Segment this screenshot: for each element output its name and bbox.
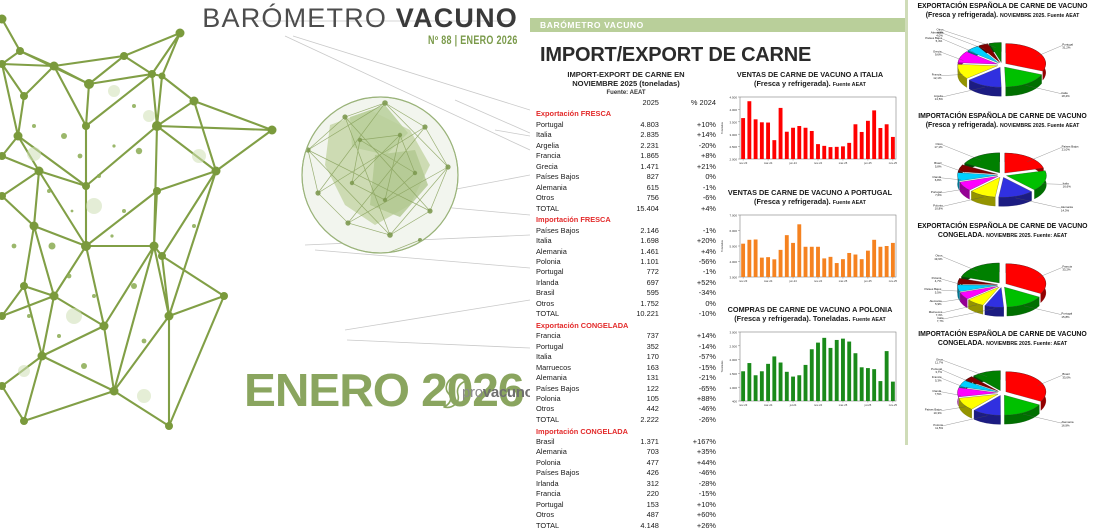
cell-pct: +14%	[673, 130, 716, 140]
cell-pct: -28%	[673, 478, 716, 488]
chart-card-polonia: COMPRAS DE CARNE DE VACUNO A POLONIA (Fr…	[718, 305, 902, 413]
import-export-table-block: IMPORT-EXPORT DE CARNE EN NOVIEMBRE 2025…	[536, 70, 716, 531]
pie-slice-value: 5,3%	[935, 378, 942, 382]
brand-title-bold: VACUNO	[396, 3, 518, 33]
chart-title-italia-main: VENTAS DE CARNE DE VACUNO A ITALIA	[718, 70, 902, 79]
th-pct: % 2024	[673, 98, 716, 108]
pie-slice-value: 3,7%	[935, 370, 942, 374]
cell-country: Otros	[536, 298, 610, 308]
chart-plot-portugal: 7.0006.0005.0004.0003.000Toneladasnov-23…	[718, 211, 902, 289]
pie-slice-value: 33,0%	[1062, 375, 1071, 379]
svg-text:5.000: 5.000	[729, 244, 737, 248]
cell-country: Países Bajos	[536, 383, 610, 393]
cell-value: 1.471	[610, 161, 673, 171]
table-row: Países Bajos122-65%	[536, 383, 716, 393]
cell-country: Alemania	[536, 373, 610, 383]
table-row: Grecia1.471+21%	[536, 161, 716, 171]
svg-text:mar-24: mar-24	[764, 279, 773, 283]
table-body: Exportación FRESCAPortugal4.803+10%Itali…	[536, 108, 716, 531]
chart-source-portugal: Fuente AEAT	[833, 200, 866, 206]
pie-slice-value: 12,1%	[933, 75, 942, 79]
cell-country: Portugal	[536, 267, 610, 277]
cell-pct: -26%	[673, 415, 716, 425]
pie-title-exp-congelada: EXPORTACIÓN ESPAÑOLA DE CARNE DE VACUNO …	[905, 222, 1100, 241]
pie-source-exp-congelada: NOVIEMBRE 2025. Fuente: AEAT	[986, 233, 1067, 239]
cell-country: Francia	[536, 489, 610, 499]
pie-title-imp-fresca: IMPORTACIÓN ESPAÑOLA DE CARNE DE VACUNO …	[905, 112, 1100, 131]
cell-country: Polonia	[536, 257, 610, 267]
table-group-label: Importación CONGELADA	[536, 425, 716, 437]
chart-title-polonia-main: COMPRAS DE CARNE DE VACUNO A POLONIA	[718, 305, 902, 314]
svg-text:nov-24: nov-24	[814, 161, 823, 165]
pie-slice-value: 14,3%	[1061, 208, 1070, 212]
pie-title-imp-fresca-main: IMPORTACIÓN ESPAÑOLA DE CARNE DE VACUNO	[909, 112, 1096, 121]
cell-pct: -6%	[673, 193, 716, 203]
svg-text:mar-25: mar-25	[839, 279, 848, 283]
svg-text:jun-24: jun-24	[788, 279, 797, 283]
chart-subtitle-polonia: (Fresca y refrigerada). Toneladas.	[734, 314, 850, 323]
pie-charts-panel: EXPORTACIÓN ESPAÑOLA DE CARNE DE VACUNO …	[905, 0, 1100, 445]
svg-text:1.000: 1.000	[729, 385, 737, 389]
cell-value: 697	[610, 278, 673, 288]
ribbon-bar: BARÓMETRO VACUNO	[530, 18, 905, 32]
cell-pct: +26%	[673, 520, 716, 530]
pie-slice-value: 4,9%	[937, 30, 944, 34]
cell-country: Portugal	[536, 341, 610, 351]
pie-card-imp-fresca: IMPORTACIÓN ESPAÑOLA DE CARNE DE VACUNO …	[905, 112, 1100, 213]
svg-text:jun-25: jun-25	[863, 279, 872, 283]
table-row: Italia2.835+14%	[536, 130, 716, 140]
cell-value: 426	[610, 468, 673, 478]
table-row: Italia1.698+20%	[536, 236, 716, 246]
svg-text:2.000: 2.000	[729, 358, 737, 362]
pie-slice-value: 33,2%	[1062, 267, 1071, 271]
svg-text:mar-24: mar-24	[764, 161, 773, 165]
pie-subtitle-imp-fresca: (Fresca y refrigerada).	[926, 122, 998, 129]
pie-slice-value: 17,1%	[934, 145, 943, 149]
pie-slice-value: 5,9%	[935, 302, 942, 306]
table-row: Países Bajos426-46%	[536, 468, 716, 478]
table-heading-line2: NOVIEMBRE 2025 (toneladas)	[536, 79, 716, 88]
pie-slice-value: 10,3%	[933, 410, 942, 414]
svg-text:nov-23: nov-23	[739, 161, 748, 165]
pie-title-exp-fresca-main: EXPORTACIÓN ESPAÑOLA DE CARNE DE VACUNO	[909, 2, 1096, 11]
cell-country: TOTAL	[536, 309, 610, 319]
chart-title-polonia: COMPRAS DE CARNE DE VACUNO A POLONIA (Fr…	[718, 305, 902, 325]
cell-value: 615	[610, 182, 673, 192]
cell-value: 15.404	[610, 203, 673, 213]
cell-country: Otros	[536, 193, 610, 203]
pie-slice-value: 15,8%	[1061, 314, 1070, 318]
svg-text:jun-24: jun-24	[788, 161, 797, 165]
cell-value: 131	[610, 373, 673, 383]
cell-value: 1.101	[610, 257, 673, 267]
table-row: Portugal153+10%	[536, 499, 716, 509]
table-group-row: Exportación FRESCA	[536, 108, 716, 120]
table-row: Portugal772-1%	[536, 267, 716, 277]
cell-pct: +20%	[673, 236, 716, 246]
cell-pct: +4%	[673, 246, 716, 256]
cell-country: Alemania	[536, 447, 610, 457]
pie-slice	[1006, 371, 1046, 401]
cover-panel: BARÓMETRO VACUNO Nº 88 | ENERO 2026 ENER…	[0, 0, 530, 445]
table-header-row: 2025 % 2024	[536, 98, 716, 108]
svg-text:4.000: 4.000	[729, 108, 737, 112]
cell-country: Francia	[536, 151, 610, 161]
pie-slice-value: 5,4%	[936, 39, 943, 43]
chart-source-italia: Fuente AEAT	[833, 82, 866, 88]
svg-text:3.000: 3.000	[729, 132, 737, 136]
table-group-row: Importación FRESCA	[536, 214, 716, 226]
logo-vacuno-text: vacuno	[483, 384, 530, 401]
cell-pct: -14%	[673, 341, 716, 351]
svg-text:2.500: 2.500	[729, 344, 737, 348]
cell-country: Italia	[536, 130, 610, 140]
cell-value: 2.146	[610, 225, 673, 235]
svg-text:Toneladas: Toneladas	[720, 359, 724, 372]
chart-subtitle-italia: (Fresca y refrigerada).	[754, 79, 831, 88]
cell-country: Otros	[536, 510, 610, 520]
pie-slice-value: 7,5%	[935, 392, 942, 396]
cell-pct: 0%	[673, 298, 716, 308]
cell-pct: +44%	[673, 458, 716, 468]
svg-text:6.000: 6.000	[729, 229, 737, 233]
chart-card-italia: VENTAS DE CARNE DE VACUNO A ITALIA (Fres…	[718, 70, 902, 171]
chart-title-italia: VENTAS DE CARNE DE VACUNO A ITALIA (Fres…	[718, 70, 902, 90]
th-year: 2025	[610, 98, 673, 108]
logo-pro-text: pro	[462, 384, 483, 401]
cell-country: Italia	[536, 236, 610, 246]
svg-text:nov-25: nov-25	[889, 403, 898, 407]
pie-slice-value: 16,6%	[1063, 184, 1072, 188]
pie-card-imp-congelada: IMPORTACIÓN ESPAÑOLA DE CARNE DE VACUNO …	[905, 330, 1100, 431]
svg-text:7.000: 7.000	[729, 213, 737, 217]
pie-slice-value: 5,5%	[935, 290, 942, 294]
pie-slice-value: 21,0%	[1062, 147, 1071, 151]
svg-text:2.500: 2.500	[729, 145, 737, 149]
pie-title-imp-congelada: IMPORTACIÓN ESPAÑOLA DE CARNE DE VACUNO …	[905, 330, 1100, 349]
pie-slice-value: 6,8%	[935, 178, 942, 182]
ribbon-label: BARÓMETRO VACUNO	[540, 20, 644, 30]
cell-value: 10.221	[610, 309, 673, 319]
svg-text:Toneladas: Toneladas	[720, 121, 724, 134]
pie-subtitle-imp-congelada: CONGELADA.	[938, 340, 984, 347]
svg-text:nov-23: nov-23	[739, 279, 748, 283]
cell-pct: +35%	[673, 447, 716, 457]
table-row: Alemania1.461+4%	[536, 246, 716, 256]
chart-title-portugal: VENTAS DE CARNE DE VACUNO A PORTUGAL (Fr…	[718, 188, 902, 208]
cell-value: 2.222	[610, 415, 673, 425]
cell-pct: -1%	[673, 267, 716, 277]
cell-value: 2.835	[610, 130, 673, 140]
table-group-row: Exportación CONGELADA	[536, 319, 716, 331]
svg-text:4.000: 4.000	[729, 260, 737, 264]
table-row: Polonia477+44%	[536, 458, 716, 468]
cell-pct: -1%	[673, 225, 716, 235]
pie-slice-value: 11,7%	[935, 360, 943, 364]
chart-source-polonia: Fuente AEAT	[853, 317, 886, 323]
cell-country: Irlanda	[536, 478, 610, 488]
globe-illustration	[290, 55, 470, 305]
table-group-label: Exportación CONGELADA	[536, 319, 716, 331]
table-group-label: Importación FRESCA	[536, 214, 716, 226]
cell-pct: -21%	[673, 373, 716, 383]
cell-country: Alemania	[536, 246, 610, 256]
table-row: Argelia2.231-20%	[536, 140, 716, 150]
svg-text:3.000: 3.000	[729, 275, 737, 279]
table-row: Alemania131-21%	[536, 373, 716, 383]
pie-card-exp-congelada: EXPORTACIÓN ESPAÑOLA DE CARNE DE VACUNO …	[905, 222, 1100, 323]
svg-text:jun-25: jun-25	[863, 161, 872, 165]
cell-pct: +167%	[673, 437, 716, 447]
svg-text:nov-23: nov-23	[739, 403, 748, 407]
svg-text:3.500: 3.500	[729, 120, 737, 124]
table-row: Brasil1.371+167%	[536, 437, 716, 447]
table-row: Otros1.7520%	[536, 298, 716, 308]
pie-source-imp-fresca: NOVIEMBRE 2025. Fuente AEAT	[1000, 123, 1079, 129]
section-title: IMPORT/EXPORT DE CARNE	[540, 44, 811, 67]
svg-text:3.000: 3.000	[729, 330, 737, 334]
cell-value: 163	[610, 362, 673, 372]
svg-text:jul-25: jul-25	[864, 403, 872, 407]
cell-pct: -46%	[673, 468, 716, 478]
cell-country: Brasil	[536, 437, 610, 447]
import-export-table: 2025 % 2024 Exportación FRESCAPortugal4.…	[536, 98, 716, 531]
svg-text:mar-25: mar-25	[839, 403, 848, 407]
table-row: Portugal4.803+10%	[536, 120, 716, 130]
svg-text:nov-24: nov-24	[814, 279, 823, 283]
svg-text:400: 400	[732, 399, 737, 403]
cell-value: 352	[610, 341, 673, 351]
pie-slice-value: 19,9%	[934, 256, 943, 260]
pie-title-exp-congelada-main: EXPORTACIÓN ESPAÑOLA DE CARNE DE VACUNO	[909, 222, 1096, 231]
cell-pct: +88%	[673, 394, 716, 404]
cell-value: 1.698	[610, 236, 673, 246]
table-row: Polonia1.101-56%	[536, 257, 716, 267]
table-header: 2025 % 2024	[536, 98, 716, 108]
pie-slice-value: 5,8%	[935, 164, 942, 168]
cell-value: 1.865	[610, 151, 673, 161]
table-row: TOTAL15.404+4%	[536, 203, 716, 213]
pie-slice	[1006, 43, 1046, 71]
cell-country: TOTAL	[536, 415, 610, 425]
svg-text:mar-25: mar-25	[839, 161, 848, 165]
pie-slice-value: 14,5%	[935, 97, 944, 101]
page-title: BARÓMETRO VACUNO	[202, 4, 518, 32]
svg-text:2.000: 2.000	[729, 157, 737, 161]
table-row: Francia737+14%	[536, 331, 716, 341]
pie-title-imp-congelada-sub: CONGELADA. NOVIEMBRE 2025. Fuente: AEAT	[909, 339, 1096, 348]
cell-pct: +14%	[673, 331, 716, 341]
svg-text:4.500: 4.500	[729, 95, 737, 99]
chart-plot-polonia: 3.0002.5002.0001.5001.000400Toneladasnov…	[718, 328, 902, 413]
brand-title-light: BARÓMETRO	[202, 3, 387, 33]
cell-pct: 0%	[673, 172, 716, 182]
table-group-label: Exportación FRESCA	[536, 108, 716, 120]
svg-text:mar-24: mar-24	[764, 403, 773, 407]
table-row: Países Bajos8270%	[536, 172, 716, 182]
table-row: TOTAL2.222-26%	[536, 415, 716, 425]
cell-value: 595	[610, 288, 673, 298]
cell-pct: +10%	[673, 499, 716, 509]
cell-value: 220	[610, 489, 673, 499]
chart-title-italia-sub: (Fresca y refrigerada). Fuente AEAT	[718, 79, 902, 89]
pie-slice-value: 7,3%	[936, 313, 943, 317]
table-row: Francia220-15%	[536, 489, 716, 499]
cell-country: Marruecos	[536, 362, 610, 372]
pie-slice-value: 16,9%	[1061, 423, 1070, 427]
cell-value: 4.803	[610, 120, 673, 130]
cell-pct: -15%	[673, 489, 716, 499]
issue-number: Nº 88 | ENERO 2026	[272, 35, 518, 47]
cell-country: Alemania	[536, 182, 610, 192]
cell-country: Polonia	[536, 458, 610, 468]
barometro-page: BARÓMETRO VACUNO Nº 88 | ENERO 2026 ENER…	[0, 0, 1100, 445]
cell-country: Otros	[536, 404, 610, 414]
table-heading-line1: IMPORT-EXPORT DE CARNE EN	[536, 70, 716, 79]
brand-block: BARÓMETRO VACUNO Nº 88 | ENERO 2026	[202, 4, 518, 47]
svg-text:1.500: 1.500	[729, 372, 737, 376]
pie-title-exp-fresca-sub: (Fresca y refrigerada). NOVIEMBRE 2025. …	[909, 11, 1096, 20]
provacuno-wordmark: provacuno	[462, 384, 530, 401]
cell-value: 122	[610, 383, 673, 393]
cell-pct: -20%	[673, 140, 716, 150]
cell-country: TOTAL	[536, 520, 610, 530]
chart-subtitle-portugal: (Fresca y refrigerada).	[754, 197, 831, 206]
table-source: Fuente: AEAT	[536, 90, 716, 96]
chart-card-portugal: VENTAS DE CARNE DE VACUNO A PORTUGAL (Fr…	[718, 188, 902, 289]
cell-country: Portugal	[536, 499, 610, 509]
cell-pct: -57%	[673, 352, 716, 362]
cell-country: Brasil	[536, 288, 610, 298]
table-row: TOTAL10.221-10%	[536, 309, 716, 319]
cell-value: 772	[610, 267, 673, 277]
cell-pct: -1%	[673, 182, 716, 192]
pie-source-imp-congelada: NOVIEMBRE 2025. Fuente: AEAT	[986, 341, 1067, 347]
pie-title-imp-fresca-sub: (Fresca y refrigerada). NOVIEMBRE 2025. …	[909, 121, 1096, 130]
pie-slice-value: 4,7%	[935, 279, 942, 283]
cell-value: 487	[610, 510, 673, 520]
cell-value: 477	[610, 458, 673, 468]
pie-slice-value: 11,5%	[935, 426, 943, 430]
cell-pct: +8%	[673, 151, 716, 161]
cell-value: 1.461	[610, 246, 673, 256]
table-row: Brasil595-34%	[536, 288, 716, 298]
table-row: Irlanda312-28%	[536, 478, 716, 488]
cell-country: Italia	[536, 352, 610, 362]
cell-pct: +60%	[673, 510, 716, 520]
pie-slice-value: 7,6%	[935, 193, 942, 197]
cell-country: Grecia	[536, 161, 610, 171]
pie-subtitle-exp-congelada: CONGELADA.	[938, 232, 984, 239]
cell-pct: -56%	[673, 257, 716, 267]
cell-value: 4.148	[610, 520, 673, 530]
pie-source-exp-fresca: NOVIEMBRE 2025. Fuente AEAT	[1000, 13, 1079, 19]
cell-pct: -34%	[673, 288, 716, 298]
pie-subtitle-exp-fresca: (Fresca y refrigerada).	[926, 12, 998, 19]
th-country	[536, 98, 610, 108]
table-row: Países Bajos2.146-1%	[536, 225, 716, 235]
cell-pct: +52%	[673, 278, 716, 288]
table-heading: IMPORT-EXPORT DE CARNE EN NOVIEMBRE 2025…	[536, 70, 716, 89]
cell-value: 442	[610, 404, 673, 414]
chart-title-portugal-sub: (Fresca y refrigerada). Fuente AEAT	[718, 197, 902, 207]
cell-value: 737	[610, 331, 673, 341]
cell-country: TOTAL	[536, 203, 610, 213]
table-row: Portugal352-14%	[536, 341, 716, 351]
table-row: Otros756-6%	[536, 193, 716, 203]
table-row: Otros442-46%	[536, 404, 716, 414]
table-row: Polonia105+88%	[536, 394, 716, 404]
cell-country: Francia	[536, 331, 610, 341]
cell-value: 1.752	[610, 298, 673, 308]
cell-pct: -10%	[673, 309, 716, 319]
table-row: Alemania615-1%	[536, 182, 716, 192]
cell-value: 756	[610, 193, 673, 203]
pie-title-exp-fresca: EXPORTACIÓN ESPAÑOLA DE CARNE DE VACUNO …	[905, 2, 1100, 21]
cell-country: Polonia	[536, 394, 610, 404]
chart-title-portugal-main: VENTAS DE CARNE DE VACUNO A PORTUGAL	[718, 188, 902, 197]
cell-value: 170	[610, 352, 673, 362]
svg-text:nov-24: nov-24	[814, 403, 823, 407]
cell-value: 153	[610, 499, 673, 509]
chart-title-polonia-sub: (Fresca y refrigerada). Toneladas. Fuent…	[718, 314, 902, 324]
cell-value: 703	[610, 447, 673, 457]
svg-text:jul-24: jul-24	[789, 403, 797, 407]
cell-country: Portugal	[536, 120, 610, 130]
pie-slice-value: 31,2%	[1062, 45, 1071, 49]
cell-value: 1.371	[610, 437, 673, 447]
svg-text:nov-25: nov-25	[889, 279, 898, 283]
cell-value: 312	[610, 478, 673, 488]
cell-country: Irlanda	[536, 278, 610, 288]
pie-slice-value: 9,6%	[935, 52, 942, 56]
cell-pct: -46%	[673, 404, 716, 414]
table-row: Otros487+60%	[536, 510, 716, 520]
cell-value: 827	[610, 172, 673, 182]
pie-title-imp-congelada-main: IMPORTACIÓN ESPAÑOLA DE CARNE DE VACUNO	[909, 330, 1096, 339]
cell-country: Países Bajos	[536, 172, 610, 182]
pie-slice-value: 7,7%	[937, 319, 944, 323]
cell-country: Países Bajos	[536, 468, 610, 478]
cell-pct: -15%	[673, 362, 716, 372]
cell-pct: +21%	[673, 161, 716, 171]
table-row: Italia170-57%	[536, 352, 716, 362]
table-row: Francia1.865+8%	[536, 151, 716, 161]
svg-text:nov-25: nov-25	[889, 161, 898, 165]
pie-title-exp-congelada-sub: CONGELADA. NOVIEMBRE 2025. Fuente: AEAT	[909, 231, 1096, 240]
table-row: Marruecos163-15%	[536, 362, 716, 372]
cell-value: 105	[610, 394, 673, 404]
cell-value: 2.231	[610, 140, 673, 150]
pie-slice-value: 10,8%	[935, 206, 944, 210]
provacuno-logo: provacuno	[440, 375, 528, 411]
cell-pct: -65%	[673, 383, 716, 393]
chart-plot-italia: 4.5004.0003.5003.0002.5002.000Toneladasn…	[718, 93, 902, 171]
pie-card-exp-fresca: EXPORTACIÓN ESPAÑOLA DE CARNE DE VACUNO …	[905, 2, 1100, 103]
content-panel: BARÓMETRO VACUNO IMPORT/EXPORT DE CARNE …	[530, 0, 905, 445]
cell-country: Argelia	[536, 140, 610, 150]
table-group-row: Importación CONGELADA	[536, 425, 716, 437]
cell-pct: +10%	[673, 120, 716, 130]
cell-country: Países Bajos	[536, 225, 610, 235]
table-row: TOTAL4.148+26%	[536, 520, 716, 530]
table-row: Alemania703+35%	[536, 447, 716, 457]
svg-text:Toneladas: Toneladas	[720, 239, 724, 252]
cell-pct: +4%	[673, 203, 716, 213]
table-row: Irlanda697+52%	[536, 278, 716, 288]
pie-slice-value: 18,4%	[1062, 94, 1071, 98]
